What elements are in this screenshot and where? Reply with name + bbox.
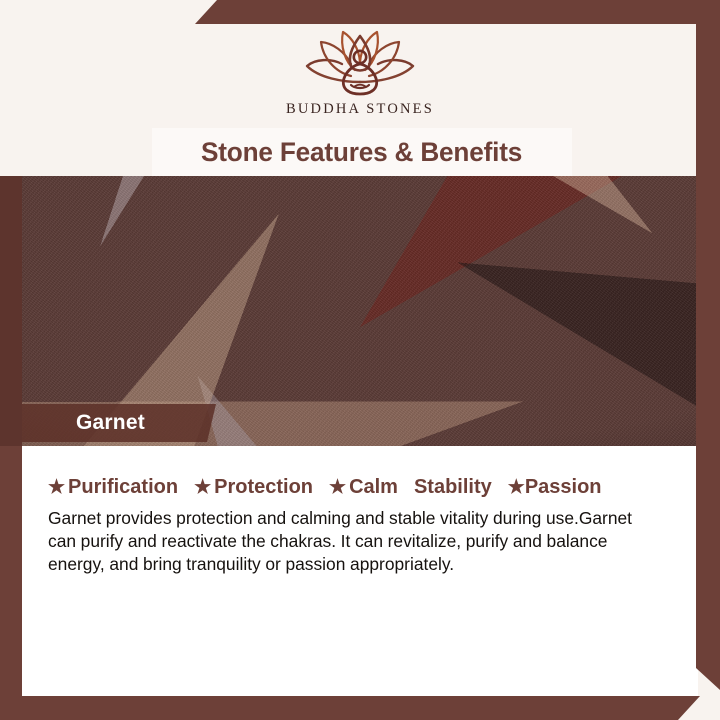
star-icon: ★ [48,478,65,497]
benefit-label: Purification [68,476,178,499]
benefit-item-passion: ★Passion [508,476,602,499]
page-title-box: Stone Features & Benefits [152,128,572,176]
star-icon: ★ [508,478,525,497]
benefit-item-stability: Stability [414,476,492,499]
frame-left-band-shade [0,176,22,446]
brand-logo: BUDDHA STONES [0,26,720,118]
star-icon: ★ [194,478,211,497]
benefit-label: Protection [214,476,313,499]
benefit-label: Calm [349,476,398,499]
star-icon: ★ [329,478,346,497]
benefit-item-purification: ★Purification [48,476,178,499]
frame-right-band [696,0,720,690]
page-title: Stone Features & Benefits [201,137,522,168]
stone-name: Garnet [76,411,145,435]
benefit-label: Passion [525,476,602,499]
benefits-row: ★Purification★Protection★CalmStability★P… [22,446,698,499]
lotus-meditation-icon [285,26,435,96]
card-body: ★Purification★Protection★CalmStability★P… [22,446,698,696]
stone-info-card: BUDDHA STONES Stone Features & Benefits … [0,0,720,720]
frame-bottom-band [0,696,700,720]
frame-top-band [195,0,720,24]
stone-description: Garnet provides protection and calming a… [22,499,670,576]
brand-name: BUDDHA STONES [286,101,434,118]
benefit-item-protection: ★Protection [194,476,313,499]
benefit-label: Stability [414,476,492,499]
benefit-item-calm: ★Calm [329,476,398,499]
stone-name-bar: Garnet [0,404,216,442]
